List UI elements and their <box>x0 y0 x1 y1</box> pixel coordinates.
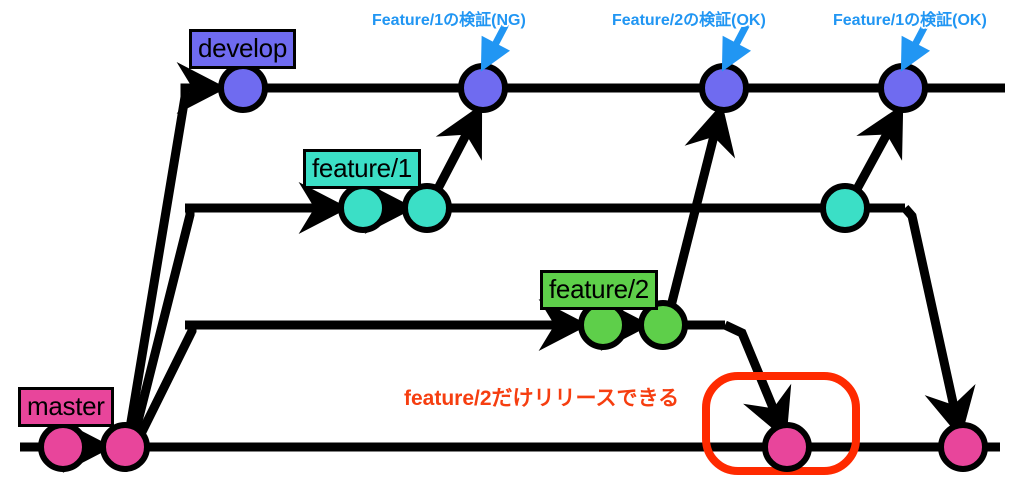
edge-feature2-merge-develop <box>668 112 720 318</box>
commit-node-m3[interactable] <box>765 425 809 469</box>
branch-label-master-text: master <box>27 391 105 421</box>
branch-label-feature1-text: feature/1 <box>312 153 412 183</box>
commit-node-d2[interactable] <box>461 66 505 110</box>
commit-node-m4[interactable] <box>941 425 985 469</box>
commit-node-d1[interactable] <box>221 66 265 110</box>
commit-node-m2[interactable] <box>103 425 147 469</box>
branch-label-master[interactable]: master <box>18 387 114 427</box>
annotation-feature2-ok: Feature/2の検証(OK) <box>612 6 766 30</box>
commit-node-d3[interactable] <box>702 66 746 110</box>
annotation-feature1-ok: Feature/1の検証(OK) <box>833 6 987 30</box>
branch-label-feature2-text: feature/2 <box>549 274 649 304</box>
edge-feature1-release-master <box>905 208 959 430</box>
commit-node-f1c[interactable] <box>823 186 867 230</box>
annotation-feature1-ng: Feature/1の検証(NG) <box>372 6 526 30</box>
annotation-feature2-release: feature/2だけリリースできる <box>404 382 679 412</box>
branch-label-develop[interactable]: develop <box>189 29 296 69</box>
edge-master-to-develop <box>128 88 218 440</box>
commit-node-f1b[interactable] <box>405 186 449 230</box>
commit-node-f1a[interactable] <box>341 186 385 230</box>
commit-node-d4[interactable] <box>881 66 925 110</box>
branch-label-feature1[interactable]: feature/1 <box>303 149 421 189</box>
commit-node-m1[interactable] <box>41 425 85 469</box>
branch-label-develop-text: develop <box>198 33 287 63</box>
branch-label-feature2[interactable]: feature/2 <box>540 270 658 310</box>
